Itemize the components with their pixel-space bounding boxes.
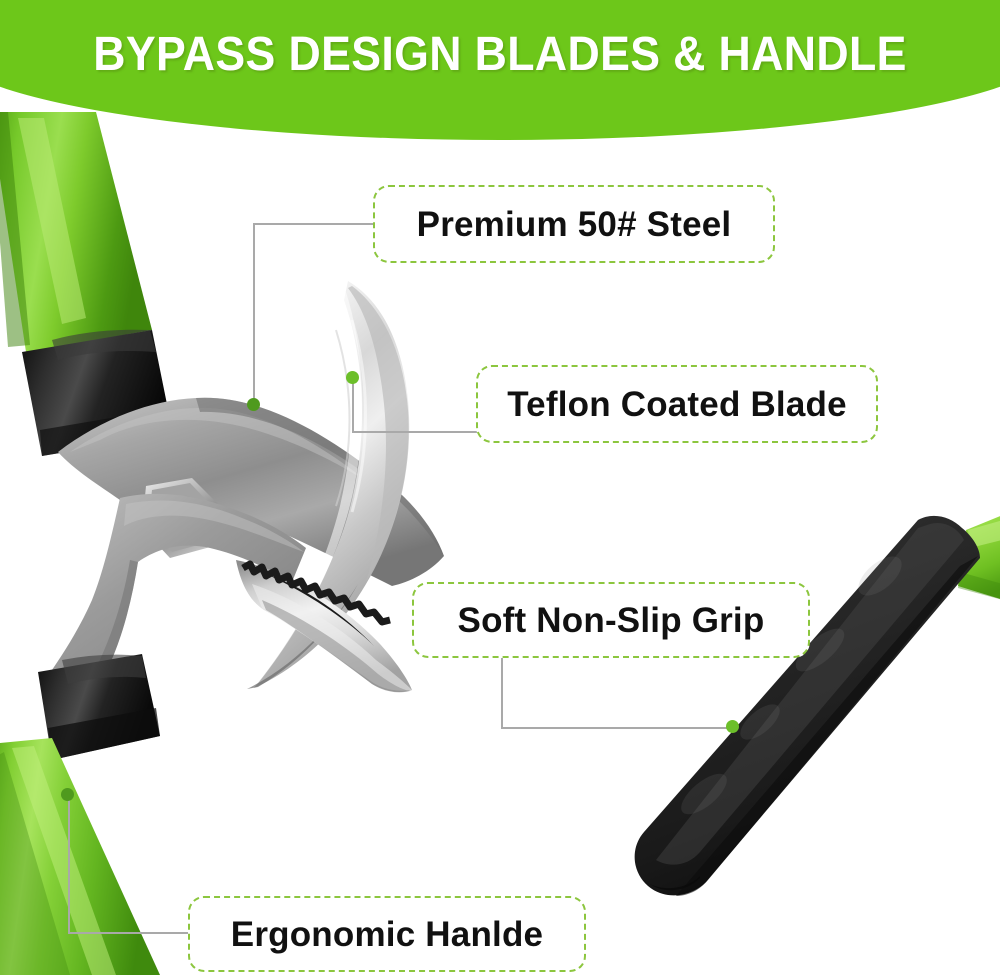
callout-dot-grip — [726, 720, 739, 733]
callout-label-text: Teflon Coated Blade — [507, 387, 847, 422]
callout-label-text: Soft Non-Slip Grip — [458, 603, 765, 638]
callout-label-teflon-blade[interactable]: Teflon Coated Blade — [476, 365, 878, 443]
black-foam-grip-part — [635, 516, 980, 896]
callout-label-ergonomic-handle[interactable]: Ergonomic Hanlde — [188, 896, 586, 972]
callout-dot-steel — [247, 398, 260, 411]
callout-label-text: Ergonomic Hanlde — [231, 917, 543, 952]
callout-label-premium-steel[interactable]: Premium 50# Steel — [373, 185, 775, 263]
callout-label-text: Premium 50# Steel — [417, 207, 732, 242]
header-banner: BYPASS DESIGN BLADES & HANDLE — [0, 0, 1000, 150]
callout-dot-teflon — [346, 371, 359, 384]
lower-green-tube-part — [0, 738, 160, 975]
callout-dot-handle — [61, 788, 74, 801]
page-title: BYPASS DESIGN BLADES & HANDLE — [35, 26, 965, 84]
lower-black-ferrule-part — [38, 654, 160, 760]
infographic-canvas: BYPASS DESIGN BLADES & HANDLE Premium 50… — [0, 0, 1000, 975]
callout-label-non-slip-grip[interactable]: Soft Non-Slip Grip — [412, 582, 810, 658]
